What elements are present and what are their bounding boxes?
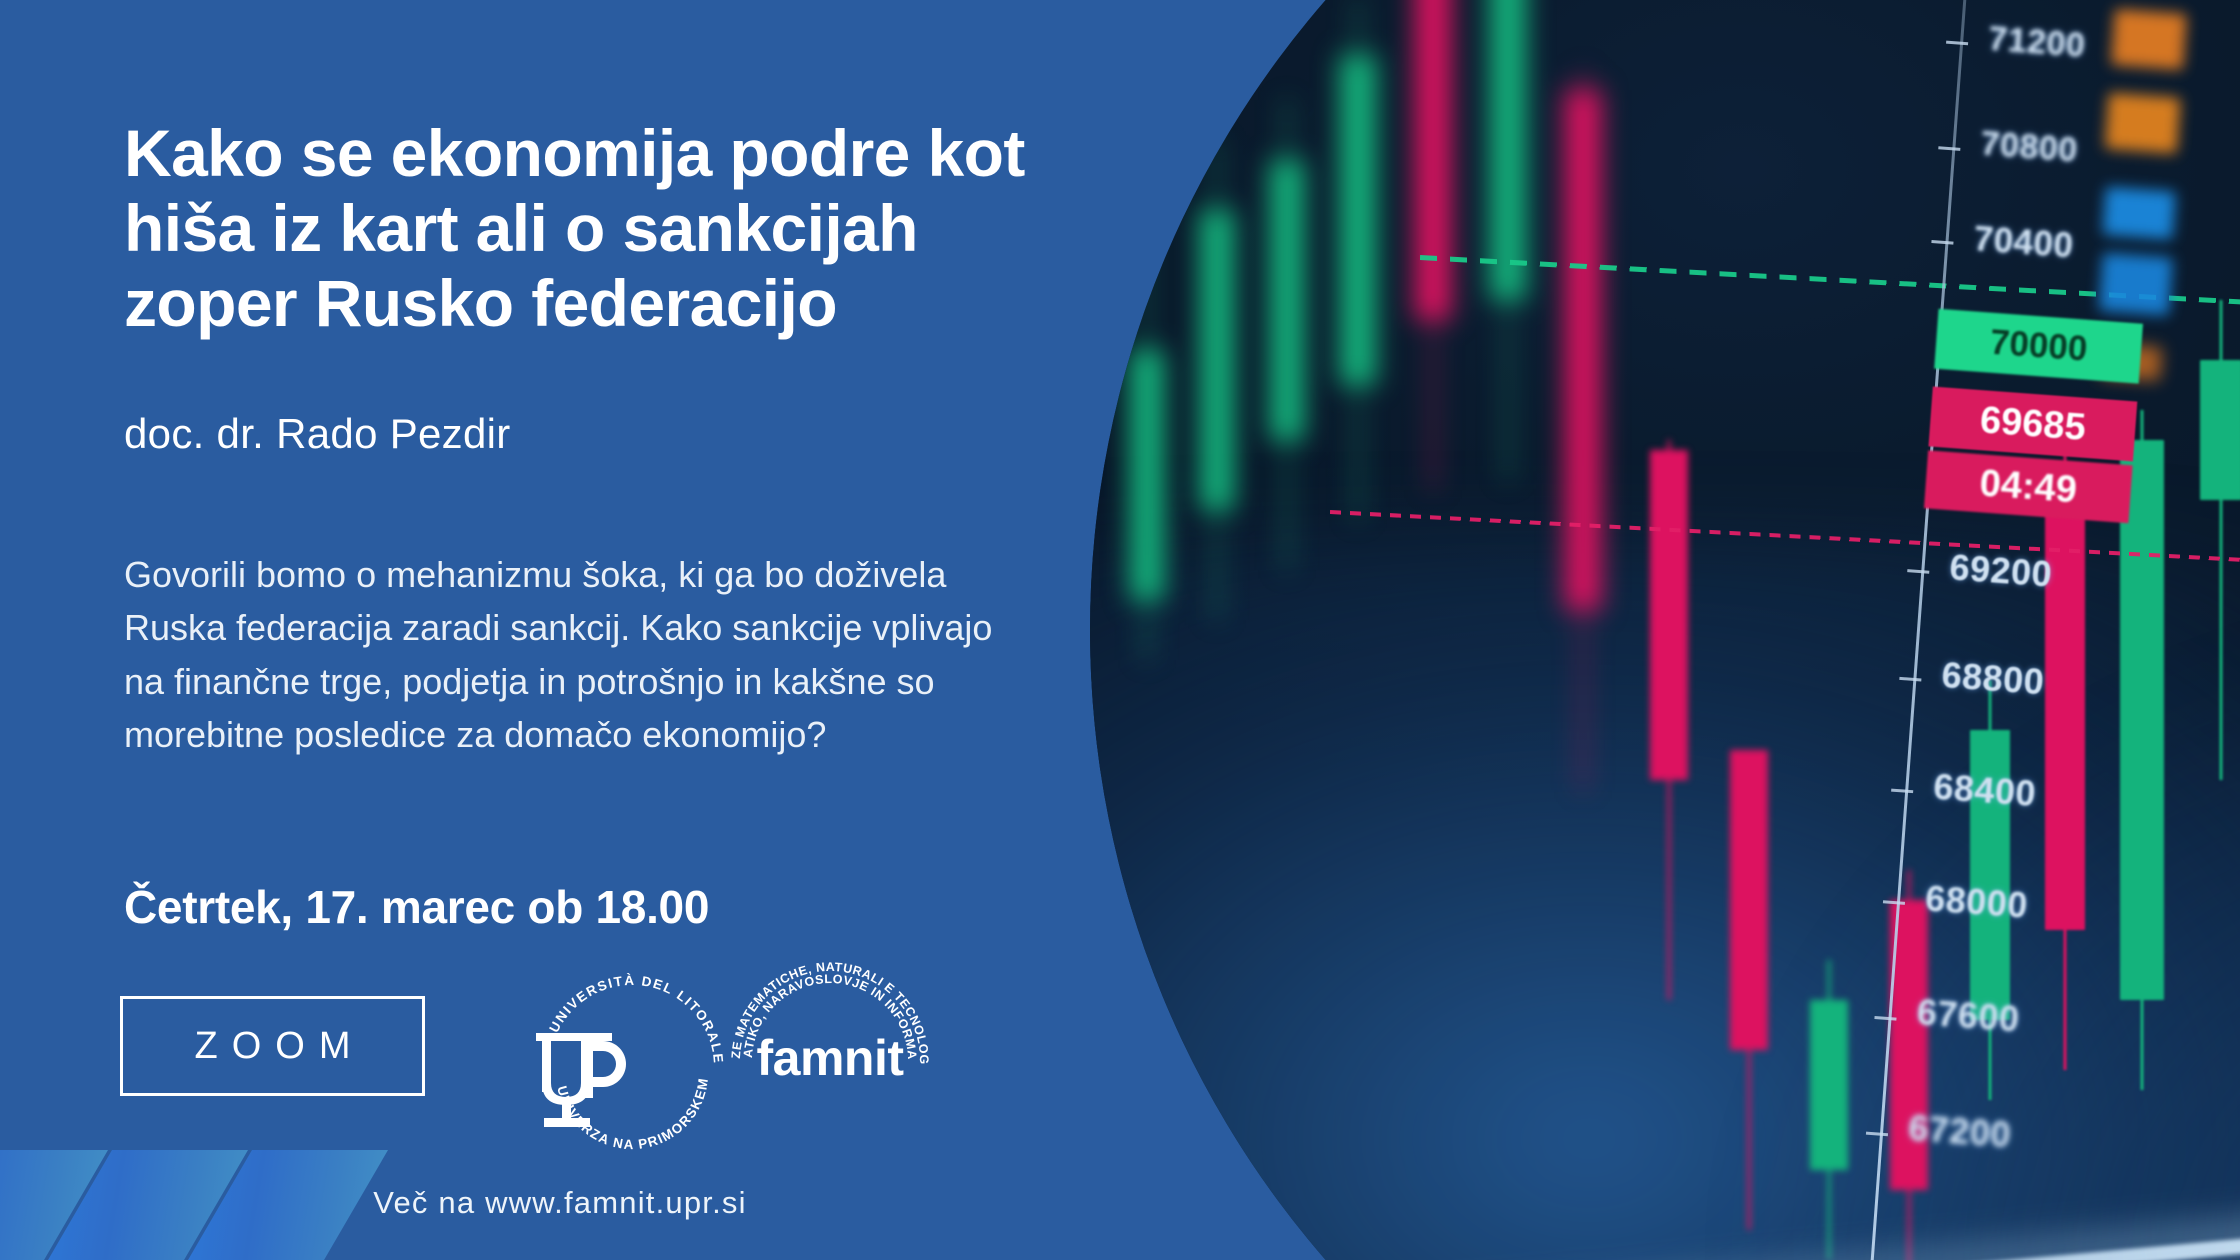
axis-label-68000: 68000 [1924,877,2029,926]
axis-tick [1907,569,1929,574]
axis-tick [1946,41,1968,46]
up-ring-text-inner: UNIVERZA NA PRIMORSKEM [554,1076,711,1152]
orderbook-chip-blue-2 [2099,253,2173,316]
event-datetime: Četrtek, 17. marec ob 18.00 [124,880,709,934]
orderbook-chip-orange-1 [2111,9,2187,70]
text-column: Kako se ekonomija podre kot hiša iz kart… [0,0,1120,1260]
zoom-button-label: ZOOM [195,1025,365,1068]
logo-group: UNIVERSITÀ DEL LITORALE UNIVERZA NA PRIM… [520,955,1000,1170]
axis-label-70400: 70400 [1972,219,2074,266]
axis-label-67200: 67200 [1907,1107,2012,1156]
orderbook-chip-blue-1 [2102,187,2175,240]
description-text: Govorili bomo o mehanizmu šoka, ki ga bo… [124,548,1024,761]
poster-root: 71200 70800 70400 70000 69685 04:49 6920… [0,0,2240,1260]
price-badge-69685: 69685 [1928,387,2137,462]
axis-tick [1883,900,1905,905]
up-ring-text-outer: UNIVERSITÀ DEL LITORALE [546,973,726,1065]
decorative-chevrons [0,1150,458,1260]
price-badge-70000: 70000 [1934,309,2143,384]
logo-famnit: FACOLTÀ DI SCIENZE MATEMATICHE, NATURALI… [710,943,950,1171]
axis-tick [1899,677,1921,682]
axis-tick [1931,240,1953,245]
axis-label-69200: 69200 [1948,546,2053,595]
axis-tick [1938,146,1960,151]
orderbook-chip-orange-2 [2105,93,2181,154]
axis-label-70800: 70800 [1979,124,2079,170]
famnit-wordmark: famnit [757,1030,905,1086]
axis-tick [1891,789,1913,794]
zoom-button[interactable]: ZOOM [120,996,425,1096]
axis-label-71200: 71200 [1987,20,2087,66]
speaker-name: doc. dr. Rado Pezdir [124,410,511,458]
countdown-badge: 04:49 [1924,450,2133,523]
axis-label-68400: 68400 [1932,766,2037,815]
axis-label-68800: 68800 [1940,654,2045,703]
axis-tick [1874,1016,1896,1021]
page-title: Kako se ekonomija podre kot hiša iz kart… [124,116,1074,342]
axis-tick [1866,1132,1888,1137]
axis-label-67600: 67600 [1915,991,2020,1040]
